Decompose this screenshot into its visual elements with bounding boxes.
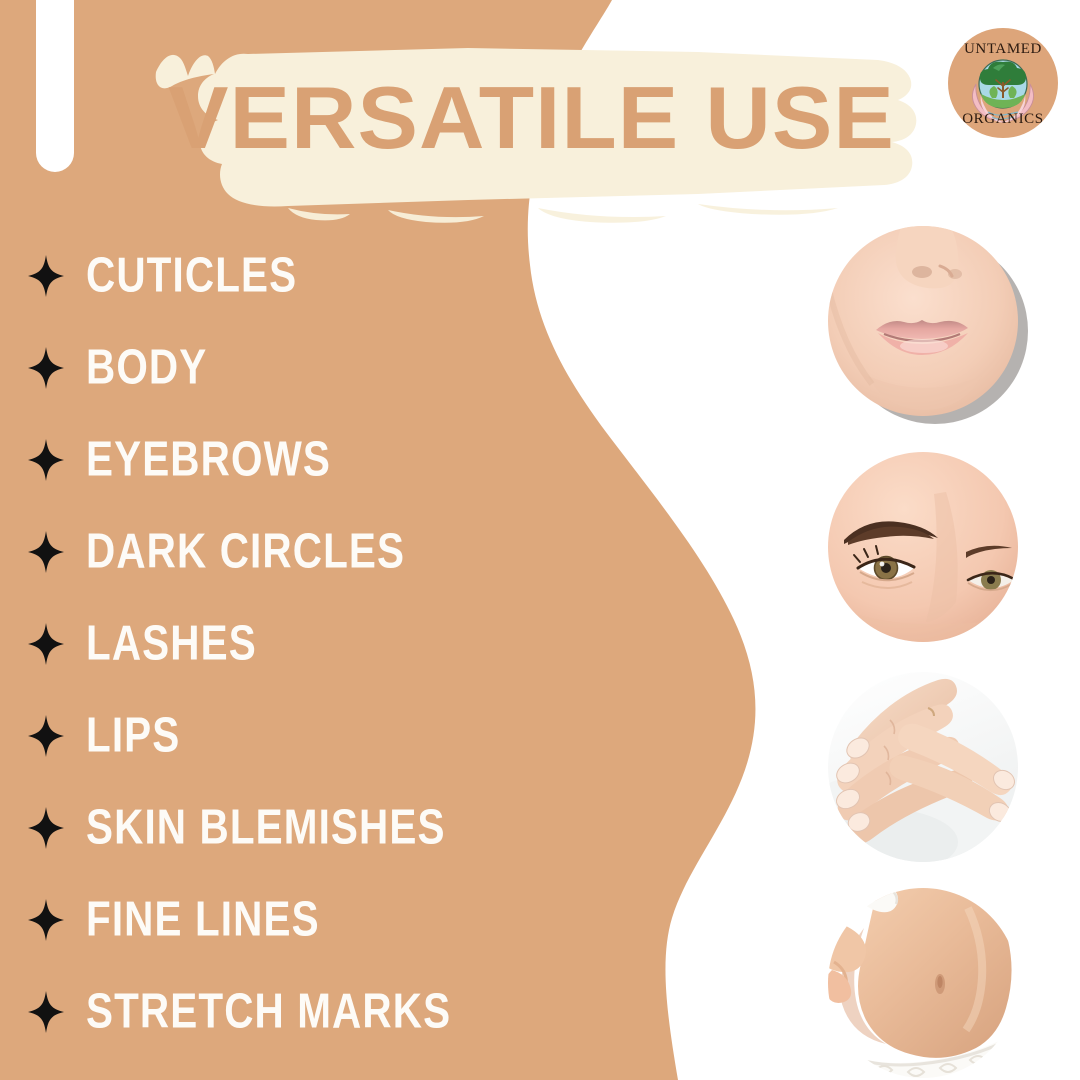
list-item: LIPS — [28, 690, 648, 782]
list-item-label: STRETCH MARKS — [86, 987, 451, 1036]
list-item-label: SKIN BLEMISHES — [86, 803, 446, 852]
list-item: SKIN BLEMISHES — [28, 782, 648, 874]
lips-closeup-photo — [828, 226, 1018, 416]
logo-top-text: UNTAMED — [948, 42, 1058, 57]
list-item-label: DARK CIRCLES — [86, 527, 405, 576]
list-item-label: FINE LINES — [86, 895, 320, 944]
four-point-star-icon — [28, 715, 64, 757]
brand-logo: UNTAMED ORGANICS — [948, 28, 1058, 138]
four-point-star-icon — [28, 255, 64, 297]
list-item: STRETCH MARKS — [28, 966, 648, 1058]
list-item-label: BODY — [86, 343, 207, 392]
title-banner: VERSATILE USE — [138, 38, 928, 228]
four-point-star-icon — [28, 439, 64, 481]
list-item-label: LASHES — [86, 619, 257, 668]
promo-graphic-canvas: VERSATILE USE — [0, 0, 1080, 1080]
benefits-list: CUTICLES BODY EYEBROWS DARK CIRCLES LASH… — [28, 230, 648, 1058]
list-item: BODY — [28, 322, 648, 414]
list-item-label: CUTICLES — [86, 251, 297, 300]
page-title: VERSATILE USE — [168, 78, 920, 158]
four-point-star-icon — [28, 899, 64, 941]
list-item: LASHES — [28, 598, 648, 690]
hands-nails-closeup-photo — [828, 672, 1018, 862]
logo-bottom-text: ORGANICS — [948, 112, 1058, 127]
list-item: CUTICLES — [28, 230, 648, 322]
list-item-label: LIPS — [86, 711, 180, 760]
list-item: EYEBROWS — [28, 414, 648, 506]
four-point-star-icon — [28, 807, 64, 849]
four-point-star-icon — [28, 623, 64, 665]
four-point-star-icon — [28, 991, 64, 1033]
four-point-star-icon — [28, 347, 64, 389]
four-point-star-icon — [28, 531, 64, 573]
list-item: DARK CIRCLES — [28, 506, 648, 598]
eyebrows-eyes-closeup-photo — [828, 452, 1018, 642]
accent-bar — [36, 0, 74, 172]
list-item: FINE LINES — [28, 874, 648, 966]
list-item-label: EYEBROWS — [86, 435, 331, 484]
torso-midriff-photo — [828, 888, 1018, 1078]
